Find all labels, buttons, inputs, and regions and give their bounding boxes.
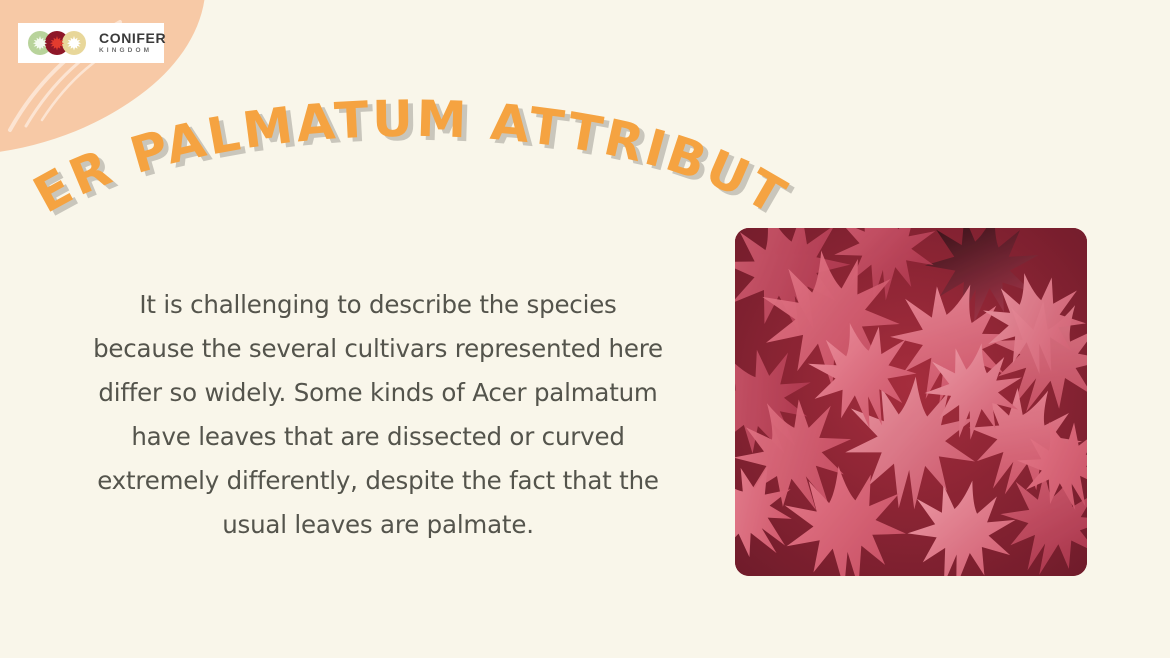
page-title-text: ACER PALMATUM ATTRIBUTES (0, 46, 797, 227)
logo-brand-primary: CONIFER (99, 31, 166, 45)
slide-canvas: CONIFER KINGDOM ACER PALMATUM ATTRIBUTES… (0, 0, 1170, 658)
body-paragraph: It is challenging to describe the specie… (88, 283, 668, 547)
logo-brand-secondary: KINGDOM (99, 48, 166, 55)
logo-wordmark: CONIFER KINGDOM (99, 31, 166, 55)
logo-marks (28, 31, 92, 55)
brand-logo[interactable]: CONIFER KINGDOM (18, 23, 164, 63)
page-title: ACER PALMATUM ATTRIBUTES ACER PALMATUM A… (0, 92, 820, 232)
page-title-main-text: ACER PALMATUM ATTRIBUTES (0, 46, 797, 227)
maple-leaf-icon-green (32, 35, 48, 51)
maple-leaves-photo (735, 228, 1087, 576)
maple-leaf-icon-red (49, 35, 65, 51)
maple-leaf-icon-cream (66, 35, 82, 51)
